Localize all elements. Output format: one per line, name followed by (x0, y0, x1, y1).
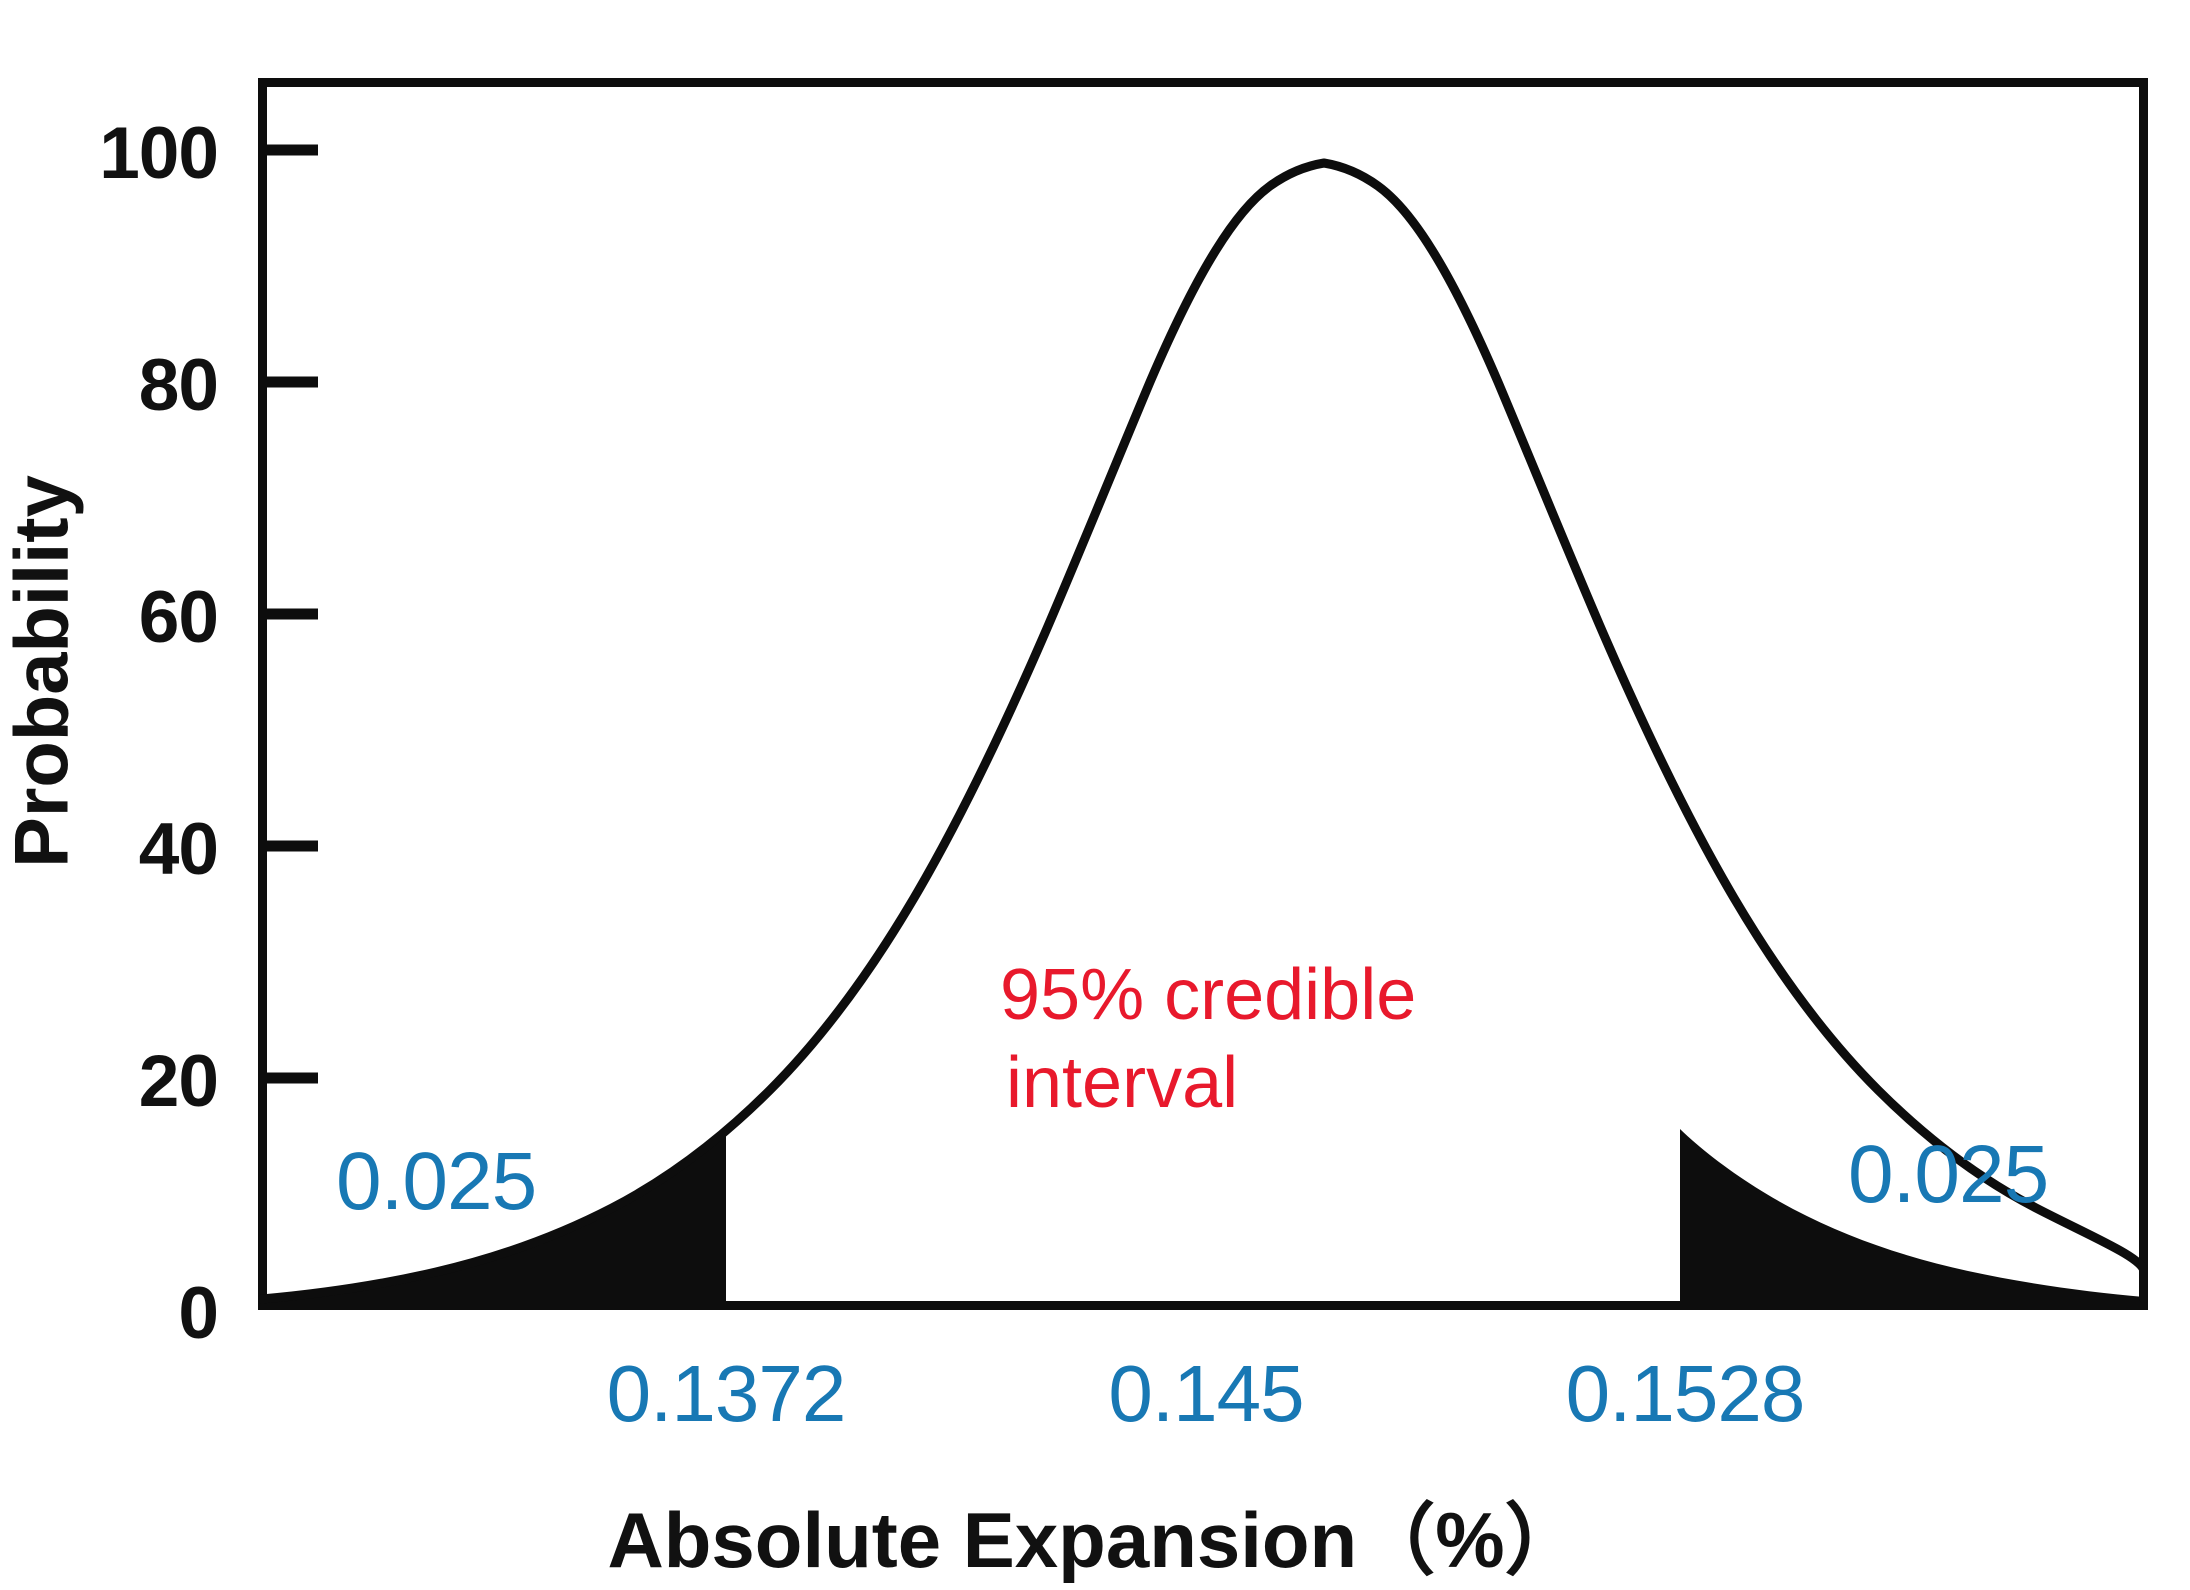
left-tail-probability-label: 0.025 (336, 1135, 536, 1229)
credible-interval-annotation: 95% credible interval (1000, 952, 1520, 1128)
credible-interval-line-2: interval (1006, 1040, 1520, 1128)
credible-interval-line-1: 95% credible (1000, 952, 1520, 1040)
y-tick-label-100: 100 (99, 112, 218, 195)
y-axis-title: Probability (0, 442, 86, 902)
x-tick-label-upper-bound: 0.1528 (1566, 1348, 1805, 1440)
x-tick-label-mean: 0.145 (1108, 1348, 1303, 1440)
y-tick-label-80: 80 (139, 344, 218, 427)
figure-canvas: 100 80 60 40 20 0 Probability 0.025 0.02… (0, 0, 2190, 1586)
right-tail-probability-label: 0.025 (1848, 1128, 2048, 1222)
y-tick-label-20: 20 (139, 1040, 218, 1123)
y-tick-label-40: 40 (139, 808, 218, 891)
y-tick-label-60: 60 (139, 576, 218, 659)
x-tick-label-lower-bound: 0.1372 (607, 1348, 846, 1440)
x-axis-title: Absolute Expansion（%） (0, 1478, 2190, 1590)
y-axis-ticks (262, 150, 318, 1078)
y-tick-label-0: 0 (178, 1272, 218, 1355)
